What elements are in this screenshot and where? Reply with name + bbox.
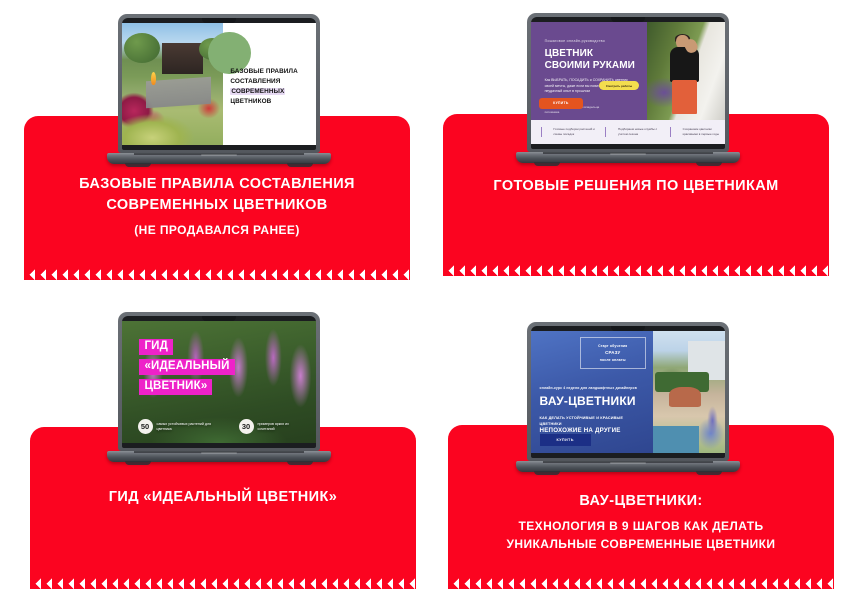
laptop-screen-landing-blue: Старт обучения СРАЗУ после оплаты онлайн… [531, 331, 725, 453]
house-shape [162, 43, 202, 75]
hero-eyebrow: Пошаговое онлайн-руководство [545, 39, 636, 43]
laptop-lid: Пошаговое онлайн-руководство ЦВЕТНИК СВО… [527, 13, 729, 152]
buy-button[interactable]: КУПИТЬ [539, 98, 582, 109]
laptop-foot-right [696, 162, 722, 166]
webcam-notch [202, 18, 236, 23]
feature-text: Подбираем новые клумбы с учётом сезона [618, 127, 660, 137]
card-zigzag-edge [24, 269, 410, 280]
card-zigzag-edge [30, 578, 416, 589]
laptop-foot-left [534, 162, 560, 166]
hero-section: Пошаговое онлайн-руководство ЦВЕТНИК СВО… [531, 22, 725, 120]
slide-title-line-4: ЦВЕТНИКОВ [230, 97, 312, 107]
card-caption: ГИД «ИДЕАЛЬНЫЙ ЦВЕТНИК» [30, 487, 416, 508]
laptop-base [516, 461, 740, 472]
hero-copy: Пошаговое онлайн-руководство ЦВЕТНИК СВО… [531, 22, 647, 120]
badge-number: 50 [138, 419, 153, 434]
hero-subtitle: КАК ДЕЛАТЬ УСТОЙЧИВЫЕ И КРАСИВЫЕ ЦВЕТНИК… [540, 416, 638, 428]
slide-title-line-3: СОВРЕМЕННЫХ [230, 87, 312, 97]
card-zigzag-edge [448, 578, 834, 589]
hero-copy: Старт обучения СРАЗУ после оплаты онлайн… [531, 331, 653, 453]
slide-title-line-1: БАЗОВЫЕ ПРАВИЛА [230, 67, 312, 77]
start-notice-bottom: после оплаты [585, 357, 641, 363]
feature-text: Сохраняем цветники красивыми в первые го… [683, 127, 725, 137]
laptop-lid: ГИД «ИДЕАЛЬНЫЙ ЦВЕТНИК» 50 самых устойчи… [118, 312, 320, 451]
webcam-notch [202, 316, 236, 321]
webcam-notch [611, 326, 645, 331]
caption-line-2: СОВРЕМЕННЫХ ЦВЕТНИКОВ [24, 195, 410, 216]
laptop-screen-landing-purple: Пошаговое онлайн-руководство ЦВЕТНИК СВО… [531, 22, 725, 144]
guide-title: ГИД «ИДЕАЛЬНЫЙ ЦВЕТНИК» [139, 336, 234, 397]
laptop-bezel: БАЗОВЫЕ ПРАВИЛА СОСТАВЛЕНИЯ СОВРЕМЕННЫХ … [122, 18, 316, 150]
start-notice-mid: СРАЗУ [585, 349, 641, 357]
laptop-base [107, 451, 331, 462]
laptop-bezel: Пошаговое онлайн-руководство ЦВЕТНИК СВО… [531, 17, 725, 149]
skirt-shape [672, 80, 697, 114]
hero-photo [653, 331, 725, 453]
laptop-hinge [543, 461, 713, 463]
torso-shape [670, 47, 699, 81]
laptop-foot-left [534, 471, 560, 475]
garden-photo [122, 23, 223, 145]
laptop-base [516, 152, 740, 163]
badge-caption: примеров ярких их сочетаний [258, 422, 305, 432]
hero-photo [647, 22, 725, 120]
badge-caption: самых устойчивых растений для цветника [157, 422, 224, 432]
card-caption: БАЗОВЫЕ ПРАВИЛА СОСТАВЛЕНИЯ СОВРЕМЕННЫХ … [24, 174, 410, 239]
laptop-foot-left [125, 163, 151, 167]
chair-shape [669, 387, 701, 407]
hero-title-line-2: СВОИМИ РУКАМИ [545, 60, 636, 72]
laptop-foot-left [125, 461, 151, 465]
caption-sub-line-2: УНИКАЛЬНЫЕ СОВРЕМЕННЫЕ ЦВЕТНИКИ [448, 535, 834, 553]
caption-line-1: ГОТОВЫЕ РЕШЕНИЯ ПО ЦВЕТНИКАМ [443, 176, 829, 197]
slide-text-panel: БАЗОВЫЕ ПРАВИЛА СОСТАВЛЕНИЯ СОВРЕМЕННЫХ … [223, 23, 316, 145]
guide-badges: 50 самых устойчивых растений для цветник… [138, 419, 305, 434]
laptop-mockup-base-rules: БАЗОВЫЕ ПРАВИЛА СОСТАВЛЕНИЯ СОВРЕМЕННЫХ … [118, 14, 320, 164]
hero-eyebrow: онлайн-курс 4 недели для ландшафтных диз… [540, 386, 637, 390]
slide-title: БАЗОВЫЕ ПРАВИЛА СОСТАВЛЕНИЯ СОВРЕМЕННЫХ … [230, 67, 312, 107]
card-caption: ВАУ-ЦВЕТНИКИ: ТЕХНОЛОГИЯ В 9 ШАГОВ КАК Д… [448, 491, 834, 553]
laptop-foot-right [287, 163, 313, 167]
laptop-screen-guide-cover: ГИД «ИДЕАЛЬНЫЙ ЦВЕТНИК» 50 самых устойчи… [122, 321, 316, 443]
hero-title-line-1: ЦВЕТНИК [545, 48, 636, 60]
laptop-base [107, 153, 331, 164]
badge-number: 30 [239, 419, 254, 434]
feature-item: Подбираем новые клумбы с учётом сезона [605, 127, 660, 137]
water-shape [653, 426, 699, 453]
garden-path [146, 77, 211, 108]
buy-button[interactable]: КУПИТЬ [540, 434, 591, 446]
feature-text: Готовые подборки растений и схемы посадо… [553, 127, 595, 137]
laptop-screen-slide-cover: БАЗОВЫЕ ПРАВИЛА СОСТАВЛЕНИЯ СОВРЕМЕННЫХ … [122, 23, 316, 145]
lavender-shape [703, 404, 722, 445]
caption-line-1: ВАУ-ЦВЕТНИКИ: [448, 491, 834, 512]
person-illustration [666, 34, 706, 120]
card-caption: ГОТОВЫЕ РЕШЕНИЯ ПО ЦВЕТНИКАМ [443, 176, 829, 197]
guide-badge: 50 самых устойчивых растений для цветник… [138, 419, 224, 434]
hero-title: ВАУ-ЦВЕТНИКИ [540, 394, 636, 408]
laptop-hinge [134, 153, 304, 155]
laptop-foot-right [287, 461, 313, 465]
portfolio-pill-button[interactable]: Смотреть работы [599, 81, 639, 90]
laptop-mockup-ideal-guide: ГИД «ИДЕАЛЬНЫЙ ЦВЕТНИК» 50 самых устойчи… [118, 312, 320, 462]
caption-sub-line-1: ТЕХНОЛОГИЯ В 9 ШАГОВ КАК ДЕЛАТЬ [448, 517, 834, 535]
guide-title-line-3: ЦВЕТНИК» [139, 379, 212, 395]
laptop-lid: БАЗОВЫЕ ПРАВИЛА СОСТАВЛЕНИЯ СОВРЕМЕННЫХ … [118, 14, 320, 153]
slide-title-line-2: СОСТАВЛЕНИЯ [230, 77, 312, 87]
laptop-mockup-wow-flowerbeds: Старт обучения СРАЗУ после оплаты онлайн… [527, 322, 729, 472]
hero-title: ЦВЕТНИК СВОИМИ РУКАМИ [545, 48, 636, 72]
caption-note: (НЕ ПРОДАВАЛСЯ РАНЕЕ) [24, 221, 410, 239]
feature-item: Сохраняем цветники красивыми в первые го… [670, 127, 725, 137]
guide-title-line-2: «ИДЕАЛЬНЫЙ [139, 359, 234, 375]
laptop-mockup-ready-solutions: Пошаговое онлайн-руководство ЦВЕТНИК СВО… [527, 13, 729, 163]
start-notice: Старт обучения СРАЗУ после оплаты [580, 337, 646, 369]
feature-strip: Готовые подборки растений и схемы посадо… [531, 120, 725, 144]
laptop-bezel: ГИД «ИДЕАЛЬНЫЙ ЦВЕТНИК» 50 самых устойчи… [122, 316, 316, 448]
tree-shape [124, 33, 160, 63]
feature-item: Готовые подборки растений и схемы посадо… [541, 127, 596, 137]
laptop-hinge [543, 152, 713, 154]
bonus-cards-grid: БАЗОВЫЕ ПРАВИЛА СОСТАВЛЕНИЯ СОВРЕМЕННЫХ … [0, 0, 852, 603]
laptop-hinge [134, 451, 304, 453]
card-zigzag-edge [443, 265, 829, 276]
laptop-foot-right [696, 471, 722, 475]
laptop-lid: Старт обучения СРАЗУ после оплаты онлайн… [527, 322, 729, 461]
caption-line-1: ГИД «ИДЕАЛЬНЫЙ ЦВЕТНИК» [30, 487, 416, 508]
guide-title-line-1: ГИД [139, 339, 173, 355]
webcam-notch [611, 17, 645, 22]
caption-line-1: БАЗОВЫЕ ПРАВИЛА СОСТАВЛЕНИЯ [24, 174, 410, 195]
laptop-bezel: Старт обучения СРАЗУ после оплаты онлайн… [531, 326, 725, 458]
guide-badge: 30 примеров ярких их сочетаний [239, 419, 305, 434]
